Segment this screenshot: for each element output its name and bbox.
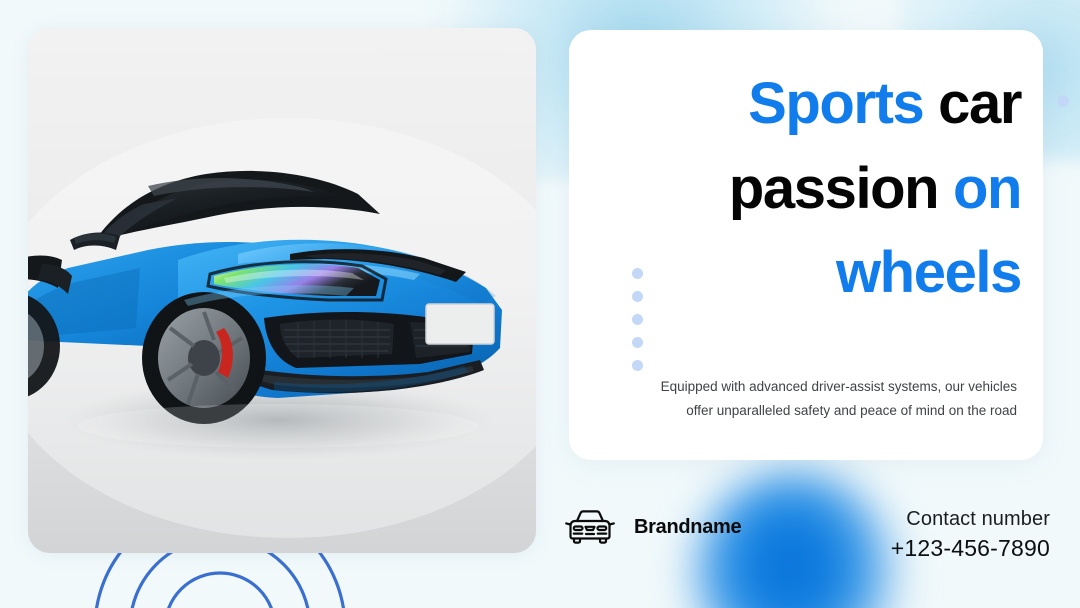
headline-line-3: wheels — [591, 231, 1021, 316]
car-front-icon — [562, 508, 618, 546]
hero-photo-card — [28, 28, 536, 553]
banner-stage: Sports car passion on wheels Equipped wi… — [0, 0, 1080, 608]
contact-label: Contact number — [891, 506, 1050, 533]
headline-line-1: Sports car — [591, 62, 1021, 147]
decor-dot — [632, 268, 643, 279]
headline-word-car: car — [923, 71, 1021, 136]
brand-name: Brandname — [634, 516, 741, 539]
body-paragraph: Equipped with advanced driver-assist sys… — [647, 375, 1017, 423]
decor-dot — [632, 314, 643, 325]
brand-lockup[interactable]: Brandname — [562, 508, 741, 546]
contact-number[interactable]: +123-456-7890 — [891, 533, 1050, 563]
headline-word-passion: passion — [729, 156, 953, 221]
content-card: Sports car passion on wheels Equipped wi… — [569, 30, 1043, 460]
headline-line-2: passion on — [591, 147, 1021, 232]
contact-block[interactable]: Contact number +123-456-7890 — [891, 506, 1050, 563]
decor-dot — [632, 337, 643, 348]
decor-dot-side — [1057, 95, 1069, 107]
decor-dot — [632, 360, 643, 371]
page-title: Sports car passion on wheels — [591, 62, 1021, 316]
decor-dots-column — [632, 268, 643, 371]
sports-car-photo — [28, 28, 536, 553]
decor-dot — [632, 291, 643, 302]
headline-word-sports: Sports — [748, 71, 923, 136]
headline-word-wheels: wheels — [836, 240, 1021, 305]
headline-word-on: on — [953, 156, 1021, 221]
